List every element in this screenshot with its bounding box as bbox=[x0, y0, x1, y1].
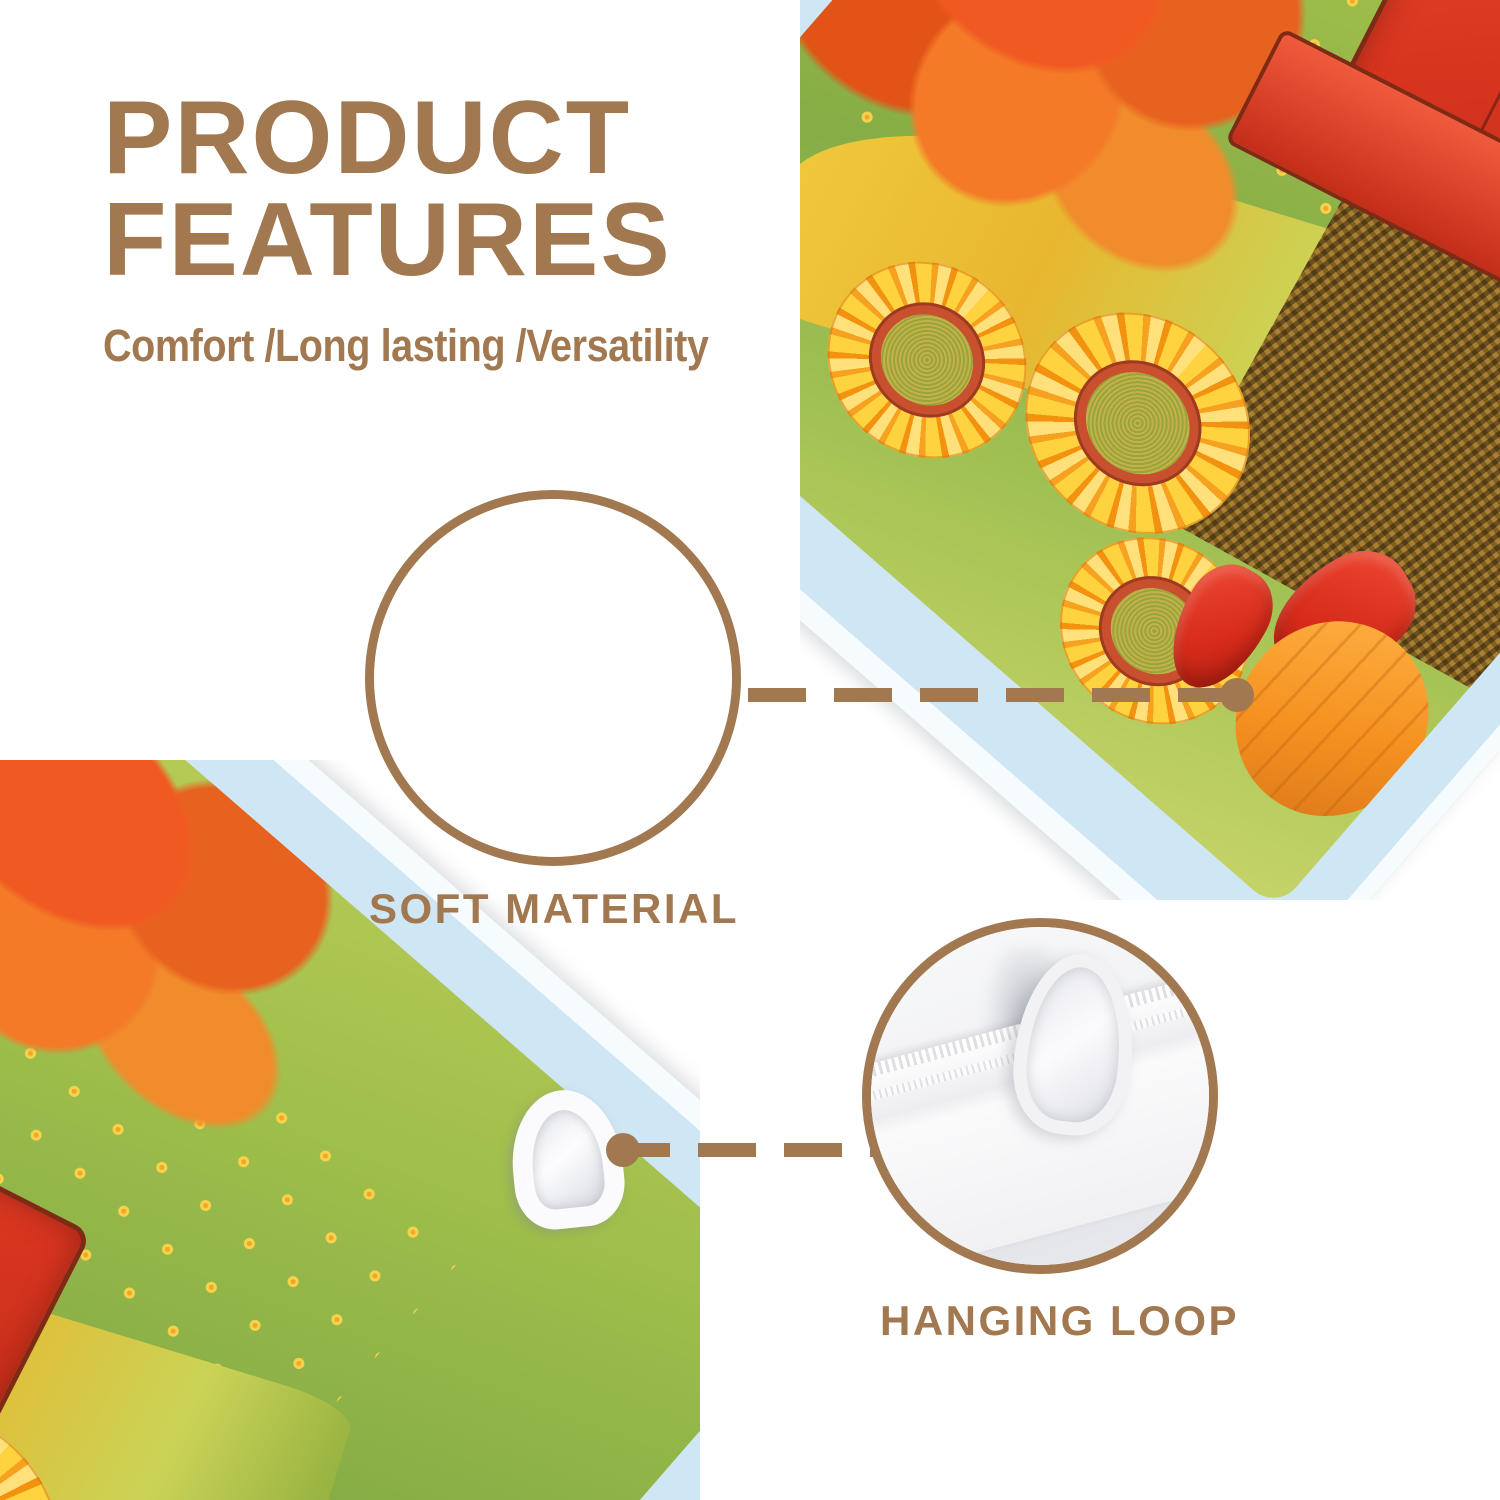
fabric-texture-icon bbox=[374, 499, 732, 857]
page-subtitle: Comfort /Long lasting /Versatility bbox=[103, 320, 772, 372]
hanging-loop-closeup bbox=[862, 918, 1218, 1274]
soft-material-connector bbox=[748, 688, 1248, 702]
dashed-line bbox=[612, 1143, 882, 1157]
hanging-loop-connector bbox=[612, 1143, 882, 1157]
soft-material-label: SOFT MATERIAL bbox=[369, 885, 739, 933]
page-title: PRODUCT FEATURES bbox=[103, 88, 863, 292]
headings-block: PRODUCT FEATURES Comfort /Long lasting /… bbox=[103, 88, 863, 372]
infographic-canvas: PRODUCT FEATURES Comfort /Long lasting /… bbox=[0, 0, 1500, 1500]
towel-artwork-top-right bbox=[800, 0, 1500, 900]
dashed-line bbox=[748, 688, 1248, 702]
connector-dot-icon bbox=[606, 1133, 640, 1167]
connector-dot-icon bbox=[1220, 678, 1254, 712]
hanging-loop-label: HANGING LOOP bbox=[880, 1297, 1239, 1345]
towel-corner-top-right bbox=[800, 0, 1500, 900]
hem-loop-photo-icon bbox=[871, 927, 1209, 1265]
soft-material-closeup bbox=[365, 490, 741, 866]
product-photo-top-right bbox=[800, 0, 1500, 900]
